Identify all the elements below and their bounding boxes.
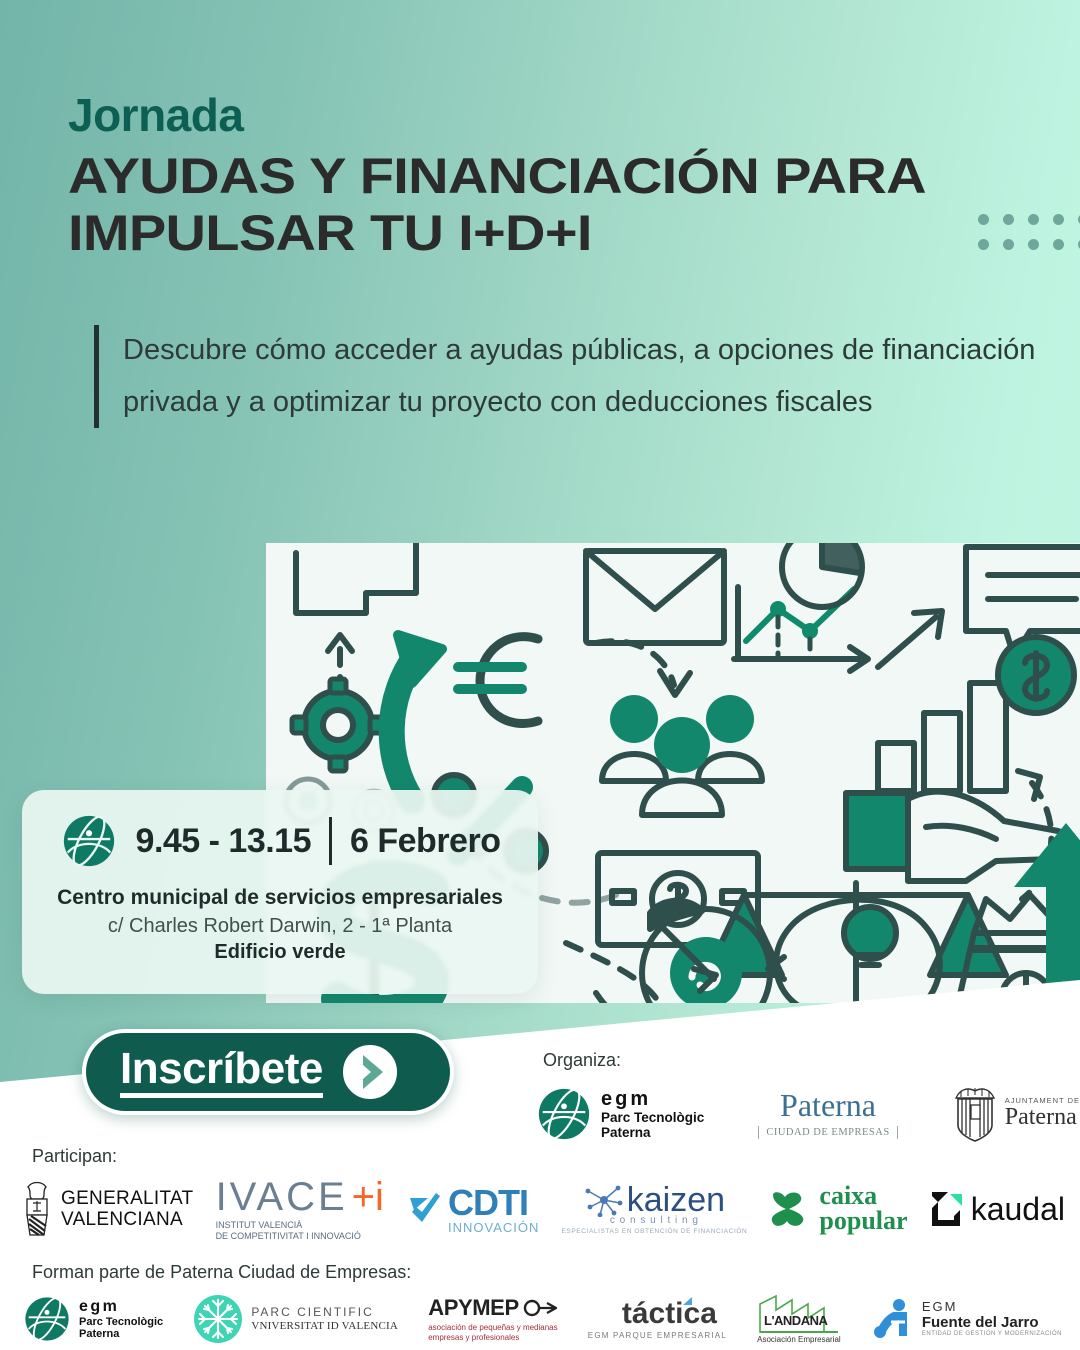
tactica-accent-icon <box>683 1297 693 1307</box>
logo-ajuntament-wordmark: Paterna <box>1005 1105 1080 1130</box>
dot <box>1053 239 1064 250</box>
participan-logo-row: GENERALITAT VALENCIANA IVACE +i INSTITUT… <box>20 1172 1065 1246</box>
organiza-logo-row: egm Parc Tecnològic Paterna Paterna CIUD… <box>535 1078 1080 1150</box>
logo-kaudal-wordmark: kaudal <box>971 1193 1065 1225</box>
kaudal-mark-icon <box>930 1190 964 1228</box>
event-address: c/ Charles Robert Darwin, 2 - 1ª Planta <box>22 915 538 938</box>
section-label-organiza: Organiza: <box>543 1050 621 1071</box>
logo-ivace-accent: +i <box>352 1177 384 1217</box>
lead-paragraph-block: Descubre cómo acceder a ayudas públicas,… <box>94 325 1054 428</box>
logo-fuente-subtitle: ENTIDAD DE GESTIÓN Y MODERNIZACIÓN <box>922 1331 1062 1338</box>
paterna-crest-icon <box>952 1085 998 1143</box>
logo-paterna-wordmark: Paterna <box>780 1089 876 1121</box>
logo-fuente-line2: Fuente del Jarro <box>922 1315 1062 1332</box>
lead-paragraph: Descubre cómo acceder a ayudas públicas,… <box>123 325 1054 428</box>
page-title: AYUDAS Y FINANCIACIÓN PARA IMPULSAR TU I… <box>68 148 1054 262</box>
headline-line-2: IMPULSAR TU I+D+i <box>68 205 1054 262</box>
headline-line-1: AYUDAS Y FINANCIACIÓN PARA <box>68 148 1054 205</box>
logo-tactica-subtitle: EGM PARQUE EMPRESARIAL <box>588 1331 727 1340</box>
chevron-right-circle-icon <box>339 1041 401 1103</box>
section-label-participan: Participan: <box>32 1146 117 1167</box>
fuente-del-jarro-mark-icon <box>871 1298 915 1340</box>
poster-canvas: Jornada AYUDAS Y FINANCIACIÓN PARA IMPUL… <box>0 0 1080 1350</box>
logo-apymep-line2: empresas y profesionales <box>428 1333 557 1343</box>
logo-landana-subtitle: Asociación Empresarial <box>757 1335 841 1344</box>
logo-apymep[interactable]: APYMEP asociación de pequeñas y medianas… <box>428 1295 557 1342</box>
logo-parc-cientific-line1: PARC CIENTIFIC <box>251 1305 398 1319</box>
poster-kicker: Jornada <box>68 88 243 142</box>
svg-text:L'ANDANA: L'ANDANA <box>764 1313 828 1328</box>
egm-orbit-icon <box>535 1085 593 1143</box>
parc-cientific-snowflake-icon <box>193 1294 243 1344</box>
register-button[interactable]: Inscríbete <box>82 1029 454 1115</box>
event-date: 6 Febrero <box>350 822 500 861</box>
logo-egm-line2-footer: Paterna <box>79 1328 163 1340</box>
logo-generalitat-line1: GENERALITAT <box>61 1188 193 1209</box>
generalitat-crest-icon <box>20 1181 54 1237</box>
logo-ajuntament-de-paterna[interactable]: AJUNTAMENT DE Paterna <box>952 1085 1080 1143</box>
logo-egm-line1-footer: Parc Tecnològic <box>79 1316 163 1328</box>
divider <box>329 817 332 865</box>
logo-kaizen-consulting[interactable]: kaizen c o n s u l t i n g ESPECIALISTAS… <box>562 1183 748 1235</box>
dot <box>1053 214 1064 225</box>
logo-cdti[interactable]: CDTI INNOVACIÓN <box>406 1185 539 1234</box>
register-button-label: Inscríbete <box>120 1046 323 1097</box>
logo-generalitat-line2: VALENCIANA <box>61 1209 193 1230</box>
forman-parte-logo-row: egm Parc Tecnològic Paterna PARC CIENTIF… <box>22 1288 1062 1350</box>
logo-tactica[interactable]: táctica EGM PARQUE EMPRESARIAL <box>588 1299 727 1340</box>
event-time: 9.45 - 13.15 <box>136 822 311 861</box>
logo-caixa-popular[interactable]: caixa popular <box>769 1184 907 1233</box>
logo-egm-parc-tecnologic-paterna-footer[interactable]: egm Parc Tecnològic Paterna <box>22 1294 163 1344</box>
logo-ivace[interactable]: IVACE +i INSTITUT VALENCIÀ DE COMPETITIV… <box>216 1177 384 1241</box>
logo-generalitat-valenciana[interactable]: GENERALITAT VALENCIANA <box>20 1181 193 1237</box>
logo-kaudal[interactable]: kaudal <box>930 1190 1065 1228</box>
logo-ivace-line1: INSTITUT VALENCIÀ <box>216 1220 361 1230</box>
egm-orbit-icon <box>60 812 118 870</box>
logo-parc-cientific-line2: VNIVERSITAT ID VALENCIA <box>251 1320 398 1333</box>
logo-egm-parc-tecnologic-paterna[interactable]: egm Parc Tecnològic Paterna <box>535 1085 704 1143</box>
logo-cdti-wordmark: CDTI <box>448 1185 539 1221</box>
logo-kaizen-wordmark: kaizen <box>627 1183 725 1217</box>
logo-paterna-subtitle: CIUDAD DE EMPRESAS <box>758 1126 897 1139</box>
logo-egm-line1: Parc Tecnològic <box>601 1110 704 1125</box>
logo-ivace-line2: DE COMPETITIVITAT I INNOVACIÓ <box>216 1231 361 1241</box>
up-arrow-doodle <box>1014 823 1080 995</box>
caixa-popular-mark-icon <box>769 1189 813 1229</box>
logo-cdti-subtitle: INNOVACIÓN <box>448 1221 539 1234</box>
kaizen-network-icon <box>584 1183 624 1217</box>
logo-landana[interactable]: L'ANDANA Asociación Empresarial <box>757 1294 841 1344</box>
cdti-check-icon <box>406 1190 444 1228</box>
event-building: Edificio verde <box>22 941 538 964</box>
event-time-date-row: 9.45 - 13.15 6 Febrero <box>22 808 538 874</box>
logo-apymep-line1: asociación de pequeñas y medianas <box>428 1323 557 1333</box>
logo-egm-fuente-del-jarro[interactable]: EGM Fuente del Jarro ENTIDAD DE GESTIÓN … <box>871 1298 1062 1340</box>
logo-parc-cientific-uv[interactable]: PARC CIENTIFIC VNIVERSITAT ID VALENCIA <box>193 1294 398 1344</box>
logo-apymep-wordmark: APYMEP <box>428 1295 519 1321</box>
logo-tactica-wordmark: táctica <box>622 1299 717 1329</box>
logo-kaizen-subtitle: c o n s u l t i n g <box>610 1215 699 1226</box>
event-venue: Centro municipal de servicios empresaria… <box>22 886 538 910</box>
logo-egm-wordmark-footer: egm <box>79 1298 163 1316</box>
logo-egm-line2: Paterna <box>601 1125 704 1140</box>
logo-caixa-line2: popular <box>819 1209 907 1234</box>
event-info-card: 9.45 - 13.15 6 Febrero Centro municipal … <box>22 790 538 994</box>
apymep-link-icon <box>523 1299 557 1317</box>
egm-orbit-icon <box>22 1294 72 1344</box>
logo-fuente-line1: EGM <box>922 1300 1062 1314</box>
section-label-forman-parte: Forman parte de Paterna Ciudad de Empres… <box>32 1262 411 1283</box>
landana-factory-icon: L'ANDANA <box>758 1294 840 1334</box>
logo-egm-wordmark: egm <box>601 1088 704 1110</box>
logo-ivace-wordmark: IVACE <box>216 1177 348 1217</box>
logo-kaizen-tagline: ESPECIALISTAS EN OBTENCIÓN DE FINANCIACI… <box>562 1228 748 1235</box>
logo-paterna-ciudad-de-empresas[interactable]: Paterna CIUDAD DE EMPRESAS <box>758 1089 897 1139</box>
